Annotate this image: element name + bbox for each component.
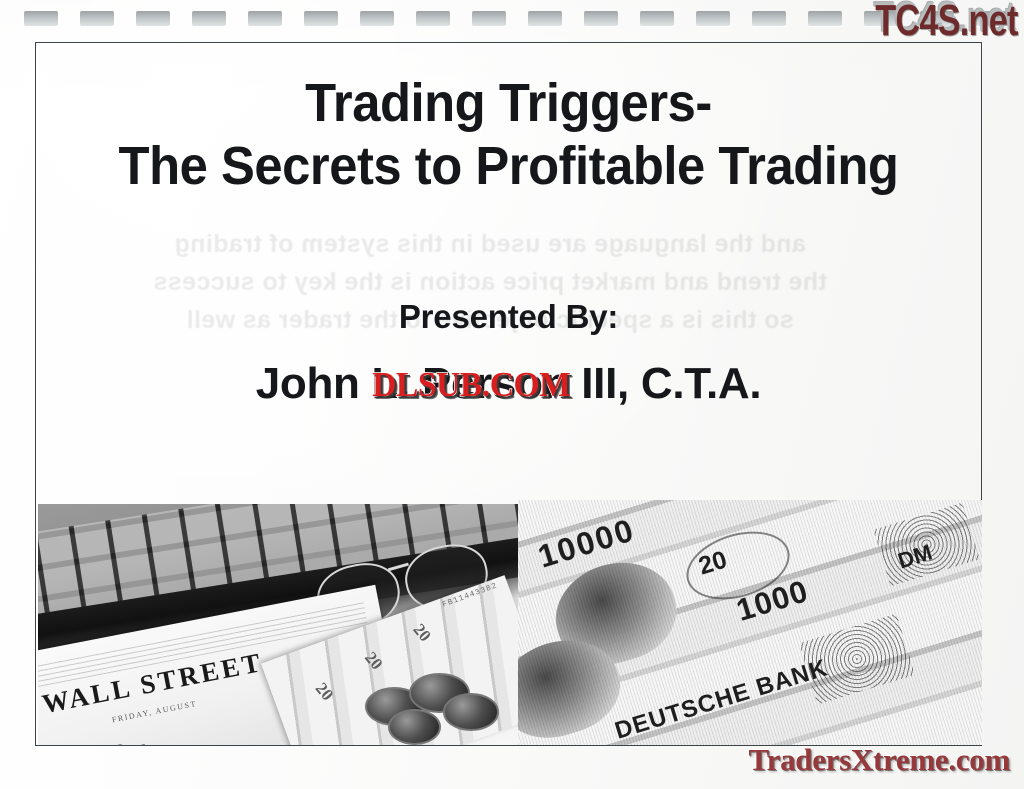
perforation-hole <box>584 11 618 26</box>
perforation-hole <box>360 11 394 26</box>
currency-photo-grain <box>518 500 982 745</box>
perforation-hole <box>136 11 170 26</box>
perforation-strip <box>0 0 1024 42</box>
newspaper-column-head: hat's News— <box>38 730 147 745</box>
watermark-tradersxtreme: TradersXtreme.com <box>749 743 1010 777</box>
perforation-hole <box>696 11 730 26</box>
slide-title-line-2: The Secrets to Profitable Trading <box>63 134 953 198</box>
photo-row: WALL STREET FRIDAY, AUGUST hat's News— 2… <box>38 500 982 745</box>
perforation-hole <box>528 11 562 26</box>
photo-wall-street-desk: WALL STREET FRIDAY, AUGUST hat's News— 2… <box>38 504 518 745</box>
watermark-tc4s: TC4S.net <box>875 0 1018 44</box>
coin <box>388 709 441 745</box>
perforation-hole <box>752 11 786 26</box>
perforation-hole <box>248 11 282 26</box>
slide-title-line-1: Trading Triggers- <box>63 72 953 134</box>
perforation-hole <box>416 11 450 26</box>
coin <box>443 693 499 730</box>
presented-by-label: Presented By: <box>35 297 982 337</box>
perforation-hole <box>80 11 114 26</box>
perforation-hole <box>192 11 226 26</box>
photo-world-currency: 10000 1000 20 DEUTSCHE BANK DM <box>518 500 982 745</box>
bill-denomination: 20 <box>408 620 434 646</box>
scanned-slide-page: and the language are used in this system… <box>0 0 1024 789</box>
perforation-hole <box>472 11 506 26</box>
slide-title-block: Trading Triggers- The Secrets to Profita… <box>35 72 982 198</box>
perforation-hole <box>808 11 842 26</box>
watermark-dlsub: DLSUB.COM <box>372 366 570 404</box>
coins-group <box>360 663 504 743</box>
bill-denomination: 20 <box>311 678 337 704</box>
perforation-hole <box>640 11 674 26</box>
perforation-hole <box>304 11 338 26</box>
perforation-hole <box>24 11 58 26</box>
